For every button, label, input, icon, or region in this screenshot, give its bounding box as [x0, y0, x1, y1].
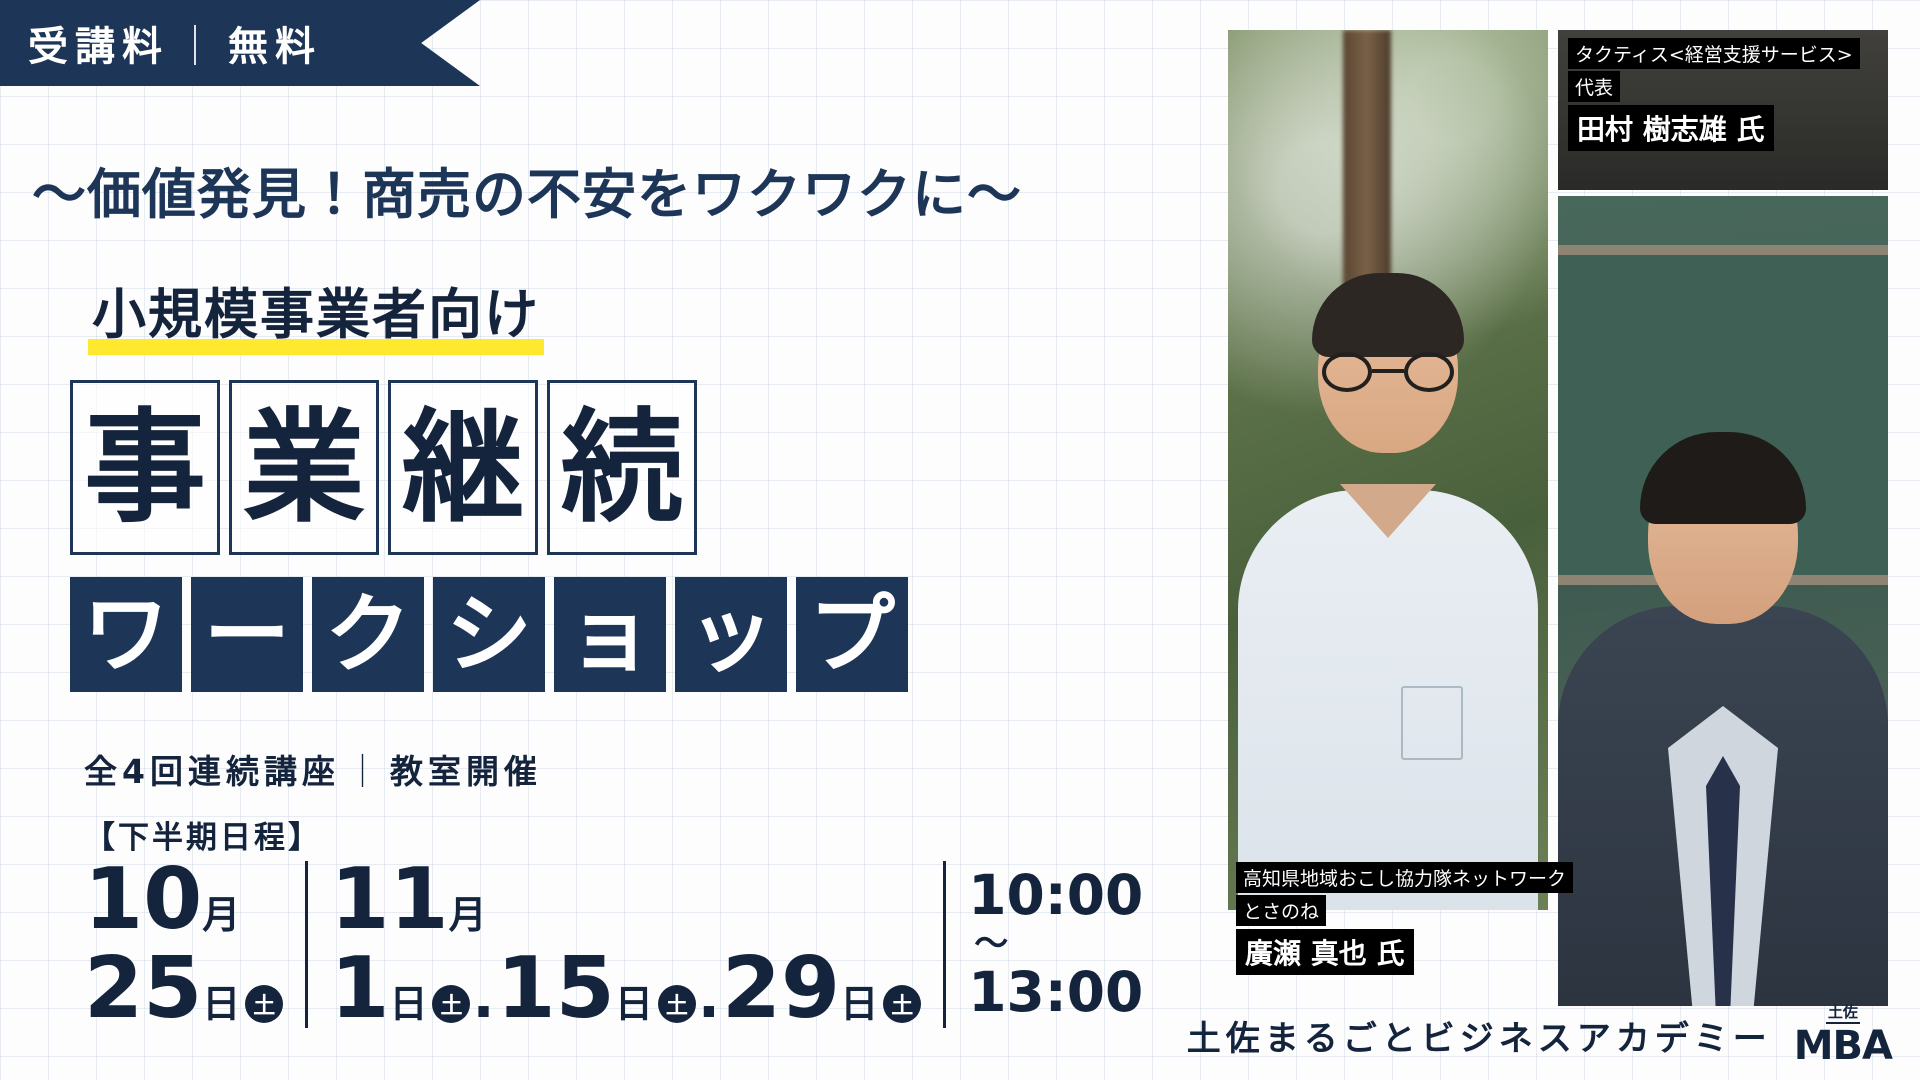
- weekday-badge: 土: [658, 985, 696, 1023]
- title-kanji-cell: 継: [388, 380, 538, 555]
- organization-name: 土佐まるごとビジネスアカデミー: [1187, 1011, 1772, 1066]
- day-number: 25: [84, 944, 202, 1033]
- speaker-photo-hirose: [1228, 30, 1548, 910]
- speaker-role: とさのね: [1236, 895, 1326, 926]
- course-format-label: 全4回連続講座: [84, 752, 340, 791]
- title-katakana-cell: シ: [433, 577, 545, 692]
- tosa-mba-logo: 土佐 MBA: [1794, 1005, 1892, 1066]
- title-katakana-cell: ワ: [70, 577, 182, 692]
- schedule-month-november: 11 月 1 日 土 . 15 日 土 . 29 日 土: [330, 855, 921, 1034]
- month-heading: 10 月: [84, 855, 283, 944]
- badge-text-right: 無料: [228, 14, 322, 72]
- target-audience-label: 小規模事業者向け: [88, 270, 544, 355]
- day-unit: 日: [615, 973, 653, 1028]
- meta-separator: ｜: [346, 752, 384, 791]
- speaker-role: 代表: [1568, 71, 1620, 102]
- day-number: 15: [497, 944, 615, 1033]
- footer-brand: 土佐まるごとビジネスアカデミー 土佐 MBA: [1187, 1005, 1892, 1066]
- lead-catchphrase: 〜価値発見！商売の不安をワクワクに〜: [32, 150, 1022, 229]
- venue-label: 教室開催: [390, 752, 542, 791]
- day-unit: 日: [389, 973, 427, 1028]
- badge-text-left: 受講料: [28, 14, 169, 72]
- schedule-time-divider: [943, 861, 946, 1028]
- time-end: 13:00: [968, 963, 1143, 1022]
- speaker-photo-tamura: [1558, 196, 1888, 1006]
- month-heading: 11 月: [330, 855, 921, 944]
- logo-top-text: 土佐: [1826, 1005, 1860, 1024]
- weekday-badge: 土: [883, 985, 921, 1023]
- speaker-affiliation: タクティス<経営支援サービス>: [1568, 38, 1860, 69]
- date-separator: .: [698, 963, 720, 1031]
- time-range-tilde: 〜: [974, 927, 1008, 961]
- badge-separator: ｜: [175, 14, 222, 72]
- title-kanji-cell: 業: [229, 380, 379, 555]
- month-unit: 月: [202, 884, 240, 939]
- date-entry-list: 1 日 土 . 15 日 土 . 29 日 土: [330, 944, 921, 1033]
- month-number: 11: [330, 855, 448, 944]
- title-katakana-row: ワ ー ク シ ョ ッ プ: [70, 577, 908, 692]
- day-number: 1: [330, 944, 389, 1033]
- schedule-month-october: 10 月 25 日 土: [84, 855, 283, 1034]
- title-katakana-cell: ョ: [554, 577, 666, 692]
- schedule-block: 10 月 25 日 土 11 月 1 日 土 . 15 日 土: [84, 855, 1143, 1034]
- date-entry: 25 日 土: [84, 944, 283, 1033]
- weekday-badge: 土: [432, 985, 470, 1023]
- photo-person-body: [1238, 490, 1538, 910]
- title-katakana-cell: ッ: [675, 577, 787, 692]
- time-start: 10:00: [968, 866, 1143, 925]
- speaker-caption-tamura: タクティス<経営支援サービス> 代表 田村 樹志雄 氏: [1568, 38, 1860, 151]
- poster-canvas: 受講料 ｜ 無料 〜価値発見！商売の不安をワクワクに〜 小規模事業者向け 事 業…: [0, 0, 1920, 1080]
- title-kanji-row: 事 業 継 続: [70, 380, 697, 555]
- photo-shirt-pocket: [1401, 686, 1463, 760]
- title-katakana-cell: ー: [191, 577, 303, 692]
- title-kanji-cell: 事: [70, 380, 220, 555]
- schedule-divider: [305, 861, 308, 1028]
- photo-person-glasses: [1322, 352, 1454, 392]
- speaker-affiliation: 高知県地域おこし協力隊ネットワーク: [1236, 862, 1573, 893]
- title-katakana-cell: プ: [796, 577, 908, 692]
- date-separator: .: [472, 963, 494, 1031]
- title-kanji-cell: 続: [547, 380, 697, 555]
- day-number: 29: [722, 944, 840, 1033]
- logo-main-text: MBA: [1794, 1026, 1892, 1066]
- speaker-caption-hirose: 高知県地域おこし協力隊ネットワーク とさのね 廣瀬 真也 氏: [1236, 862, 1573, 975]
- free-admission-badge: 受講料 ｜ 無料: [0, 0, 480, 86]
- month-number: 10: [84, 855, 202, 944]
- course-meta-line: 全4回連続講座｜教室開催: [84, 745, 542, 793]
- day-unit: 日: [840, 973, 878, 1028]
- speaker-name: 廣瀬 真也 氏: [1236, 929, 1414, 975]
- speaker-name: 田村 樹志雄 氏: [1568, 105, 1774, 151]
- day-unit: 日: [202, 973, 240, 1028]
- month-unit: 月: [449, 884, 487, 939]
- weekday-badge: 土: [245, 985, 283, 1023]
- schedule-time-block: 10:00 〜 13:00: [968, 855, 1143, 1034]
- title-katakana-cell: ク: [312, 577, 424, 692]
